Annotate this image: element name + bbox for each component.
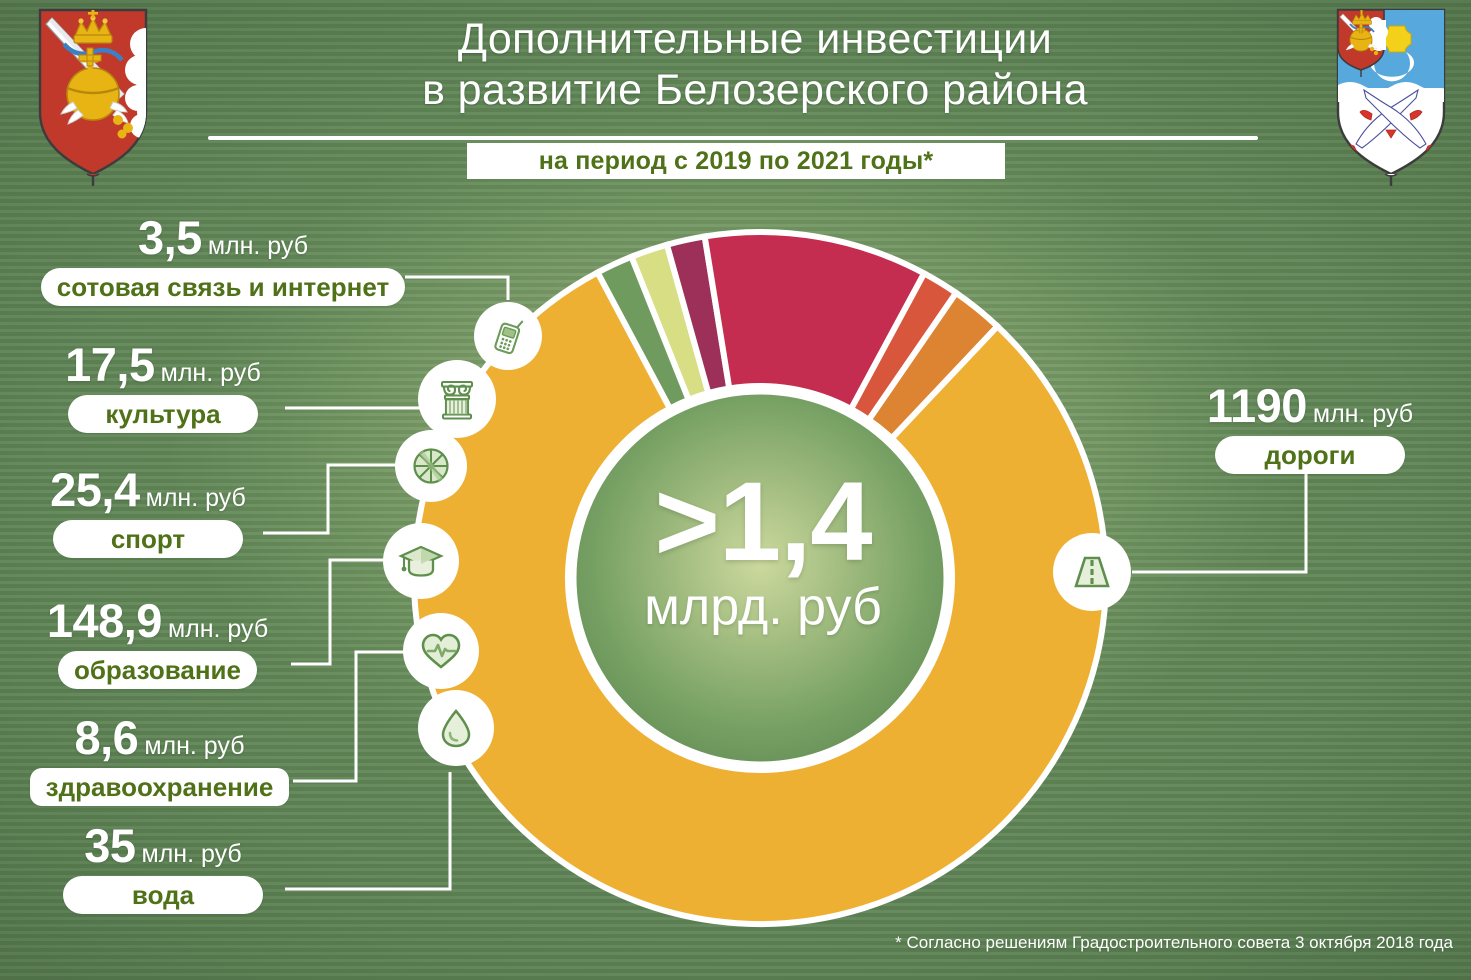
amount-cellular: 3,5млн. руб [38, 214, 408, 261]
footnote: * Согласно решениям Градостроительного с… [895, 933, 1453, 953]
icon-bubble-cellular[interactable] [474, 302, 542, 370]
vologda-oblast-coat-of-arms [18, 2, 168, 188]
belozersky-district-coat-of-arms [1316, 2, 1466, 188]
label-education: 148,9млн. руб образование [20, 597, 295, 689]
amount-roads: 1190млн. руб [1180, 382, 1440, 429]
amount-education: 148,9млн. руб [20, 597, 295, 644]
page-title: Дополнительные инвестиции в развитие Бел… [205, 14, 1305, 116]
unit-water: млн. руб [142, 840, 242, 868]
value-education: 148,9 [47, 594, 162, 647]
mobile-phone-icon [488, 316, 528, 356]
icon-bubble-healthcare[interactable] [403, 613, 479, 689]
label-culture: 17,5млн. руб культура [38, 341, 288, 433]
amount-water: 35млн. руб [38, 822, 288, 869]
unit-sport: млн. руб [146, 484, 246, 512]
value-culture: 17,5 [65, 338, 154, 391]
label-healthcare: 8,6млн. руб здравоохранение [22, 714, 297, 806]
pill-healthcare[interactable]: здравоохранение [30, 768, 290, 806]
pill-roads[interactable]: дороги [1215, 436, 1405, 474]
value-cellular: 3,5 [138, 211, 202, 264]
page-title-line2: в развитие Белозерского района [205, 65, 1305, 116]
header-divider [208, 136, 1258, 140]
value-healthcare: 8,6 [74, 711, 138, 764]
label-cellular: 3,5млн. руб сотовая связь и интернет [38, 214, 408, 306]
icon-bubble-education[interactable] [383, 523, 459, 599]
unit-cellular: млн. руб [208, 232, 308, 260]
basketball-icon [409, 444, 453, 488]
graduation-cap-icon [397, 537, 445, 585]
amount-healthcare: 8,6млн. руб [22, 714, 297, 761]
label-sport: 25,4млн. руб спорт [28, 466, 268, 558]
pill-sport[interactable]: спорт [53, 520, 243, 558]
amount-culture: 17,5млн. руб [38, 341, 288, 388]
unit-education: млн. руб [168, 615, 268, 643]
pill-culture[interactable]: культура [68, 395, 258, 433]
infographic-canvas: Дополнительные инвестиции в развитие Бел… [0, 0, 1471, 980]
icon-bubble-culture[interactable] [418, 360, 496, 438]
heart-pulse-icon [417, 627, 465, 675]
value-sport: 25,4 [50, 463, 139, 516]
value-water: 35 [84, 819, 135, 872]
unit-roads: млн. руб [1313, 400, 1413, 428]
donut-center-circle [573, 391, 947, 765]
subtitle-banner: на период с 2019 по 2021 годы* [467, 143, 1005, 179]
pill-water[interactable]: вода [63, 876, 263, 914]
amount-sport: 25,4млн. руб [28, 466, 268, 513]
label-roads: 1190млн. руб дороги [1180, 382, 1440, 474]
page-title-line1: Дополнительные инвестиции [458, 15, 1052, 63]
road-icon [1068, 548, 1116, 596]
icon-bubble-sport[interactable] [395, 430, 467, 502]
icon-bubble-roads[interactable] [1053, 533, 1131, 611]
subtitle-text: на период с 2019 по 2021 годы* [539, 147, 934, 176]
unit-healthcare: млн. руб [144, 732, 244, 760]
pill-cellular[interactable]: сотовая связь и интернет [41, 268, 405, 306]
water-drop-icon [433, 705, 479, 751]
label-water: 35млн. руб вода [38, 822, 288, 914]
column-icon [433, 375, 481, 423]
value-roads: 1190 [1207, 379, 1307, 432]
icon-bubble-water[interactable] [418, 690, 494, 766]
unit-culture: млн. руб [161, 359, 261, 387]
pill-education[interactable]: образование [58, 651, 257, 689]
